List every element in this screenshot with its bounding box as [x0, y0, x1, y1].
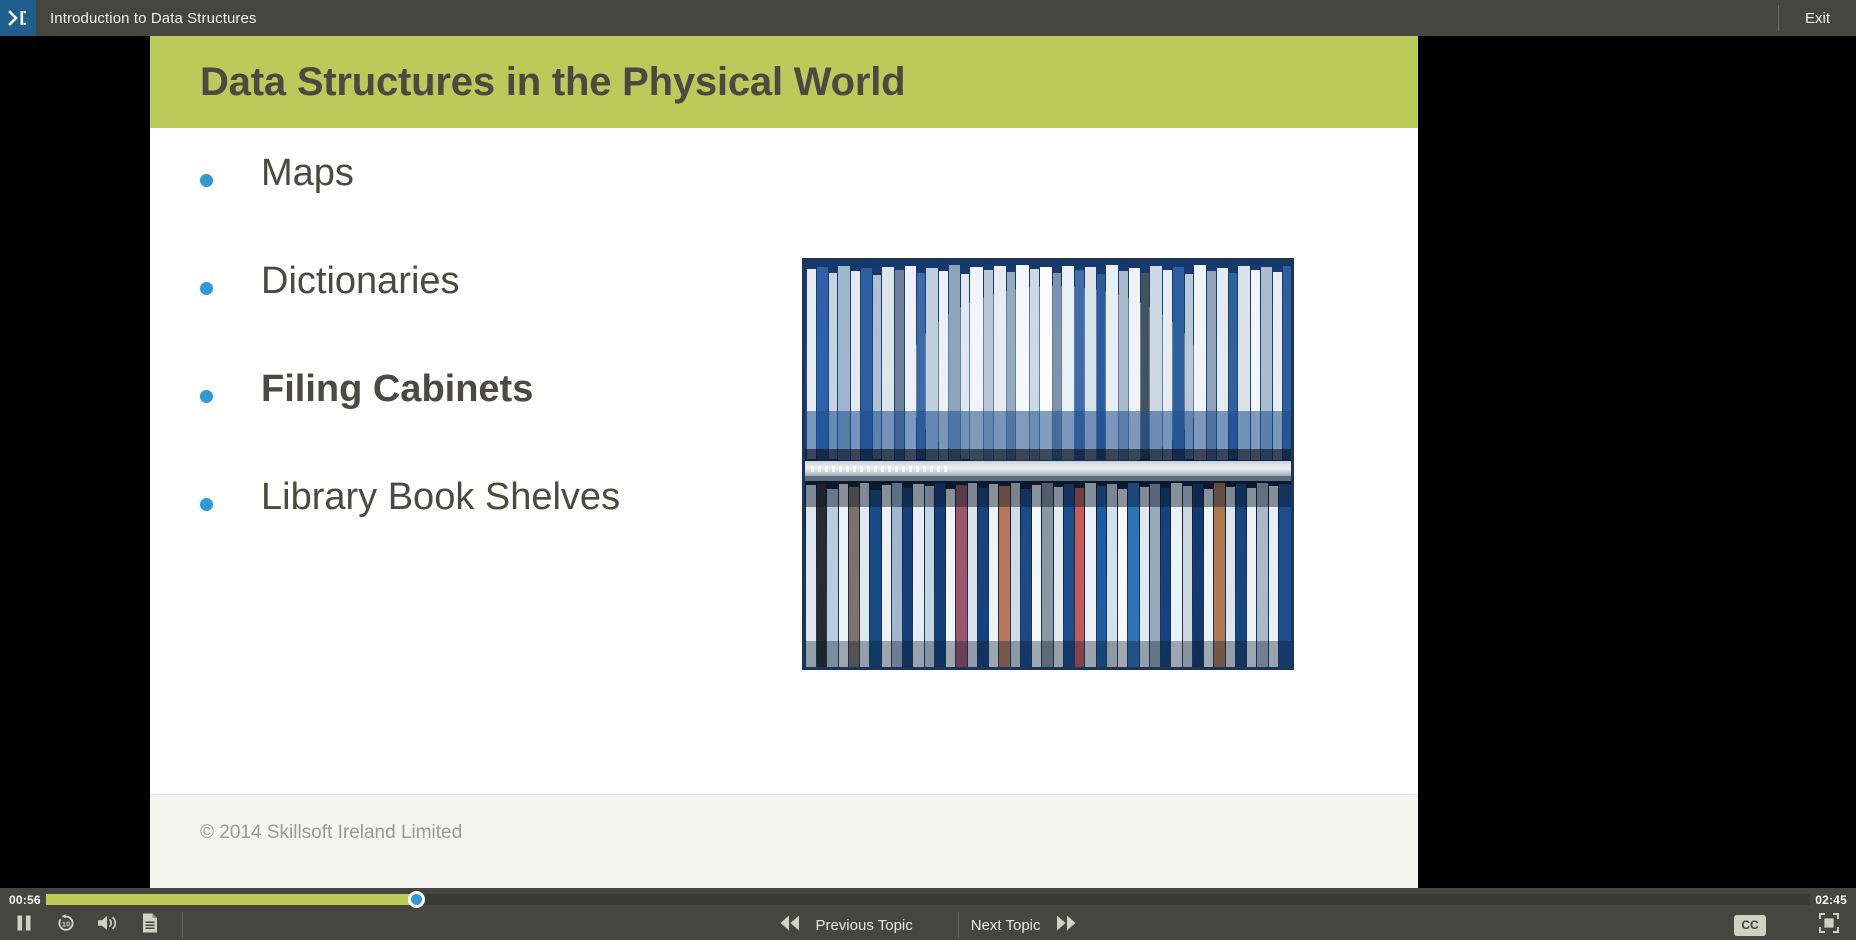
list-item: Library Book Shelves: [200, 474, 800, 582]
total-time: 02:45: [1815, 893, 1847, 907]
bullet-dot-icon: [200, 390, 213, 403]
control-divider-left: [182, 912, 183, 938]
control-divider-right: [958, 912, 959, 938]
seek-track[interactable]: [46, 894, 1810, 905]
replay-10-icon: 10: [55, 912, 77, 939]
list-item: Filing Cabinets: [200, 366, 800, 474]
forward-double-arrow-icon: [1053, 914, 1079, 936]
bullet-label: Library Book Shelves: [261, 474, 620, 520]
pause-button[interactable]: [4, 910, 44, 940]
top-bar: Introduction to Data Structures Exit: [0, 0, 1856, 36]
volume-icon: [96, 913, 120, 938]
slide-header-band: Data Structures in the Physical World: [150, 36, 1418, 128]
brand-tile[interactable]: [0, 0, 36, 36]
bullet-dot-icon: [200, 498, 213, 511]
seek-handle[interactable]: [408, 891, 425, 908]
elapsed-time: 00:56: [9, 893, 41, 907]
previous-topic-label: Previous Topic: [815, 917, 912, 934]
seek-progress-fill: [46, 894, 416, 905]
bullet-label: Maps: [261, 150, 354, 196]
bullet-label: Filing Cabinets: [261, 366, 533, 412]
next-topic-button[interactable]: Next Topic: [971, 914, 1079, 936]
bullet-dot-icon: [200, 282, 213, 295]
control-bar: 10: [0, 910, 1856, 940]
list-item: Dictionaries: [200, 258, 800, 366]
progress-bar: 00:56 02:45: [0, 888, 1856, 910]
bullet-list: Maps Dictionaries Filing Cabinets Librar…: [200, 150, 800, 582]
fullscreen-button[interactable]: [1812, 910, 1846, 940]
notes-button[interactable]: [130, 910, 170, 940]
next-topic-label: Next Topic: [971, 917, 1041, 934]
filing-cabinet-illustration: [805, 261, 1291, 667]
control-bar-right-group: CC: [1734, 910, 1856, 940]
slide-title: Data Structures in the Physical World: [200, 60, 905, 105]
volume-button[interactable]: [88, 910, 128, 940]
course-title: Introduction to Data Structures: [50, 10, 257, 27]
topic-navigation-group: Previous Topic Next Topic: [0, 910, 1856, 940]
pause-icon: [14, 913, 34, 938]
rewind-double-arrow-icon: [777, 914, 803, 936]
svg-text:10: 10: [62, 919, 70, 928]
slide-body: Maps Dictionaries Filing Cabinets Librar…: [150, 128, 1418, 794]
copyright-text: © 2014 Skillsoft Ireland Limited: [200, 822, 462, 844]
exit-button[interactable]: Exit: [1779, 0, 1856, 36]
slide-footer-band: © 2014 Skillsoft Ireland Limited: [150, 794, 1418, 888]
bullet-dot-icon: [200, 174, 213, 187]
closed-captions-button[interactable]: CC: [1734, 915, 1766, 936]
slide-stage: Data Structures in the Physical World Ma…: [150, 36, 1418, 888]
list-item: Maps: [200, 150, 800, 258]
replay-10-button[interactable]: 10: [46, 910, 86, 940]
previous-topic-button[interactable]: Previous Topic: [777, 914, 912, 936]
notes-icon: [140, 912, 160, 939]
course-player: Introduction to Data Structures Exit Dat…: [0, 0, 1856, 940]
filing-cabinet-photo: [802, 258, 1294, 670]
top-bar-right-group: Exit: [1778, 0, 1856, 36]
fullscreen-icon: [1818, 912, 1840, 939]
bullet-label: Dictionaries: [261, 258, 460, 304]
panel-expand-icon: [7, 7, 29, 29]
